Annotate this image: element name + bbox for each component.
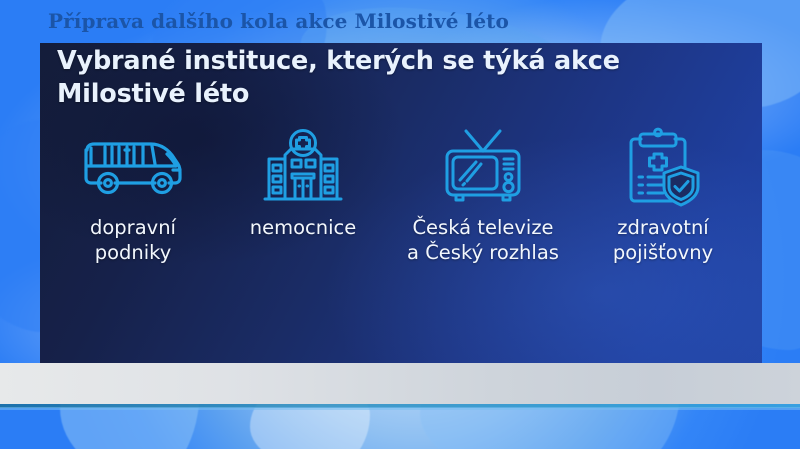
institution-label: zdravotní pojišťovny: [613, 216, 713, 265]
page-title: Vybrané instituce, kterých se týká akce …: [57, 45, 667, 111]
hospital-icon: [261, 128, 345, 206]
broadcast-graphic: Vybrané instituce, kterých se týká akce …: [0, 0, 800, 449]
bus-icon: [81, 128, 185, 206]
institution-item-hospital: nemocnice: [218, 128, 388, 241]
banner-rule-secondary: [0, 407, 800, 410]
institution-item-broadcast: Česká televize a Český rozhlas: [388, 128, 578, 265]
institution-label: nemocnice: [250, 216, 357, 241]
clipboard-shield-icon: [623, 128, 703, 206]
institution-item-transport: dopravní podniky: [48, 128, 218, 265]
banner-headline: Příprava dalšího kola akce Milostivé lét…: [48, 0, 509, 41]
institution-label: Česká televize a Český rozhlas: [407, 216, 559, 265]
institution-label: dopravní podniky: [90, 216, 176, 265]
television-icon: [442, 128, 524, 206]
lower-third-banner: [0, 363, 800, 404]
institution-item-insurance: zdravotní pojišťovny: [578, 128, 748, 265]
institution-list: dopravní podniky: [48, 128, 748, 265]
